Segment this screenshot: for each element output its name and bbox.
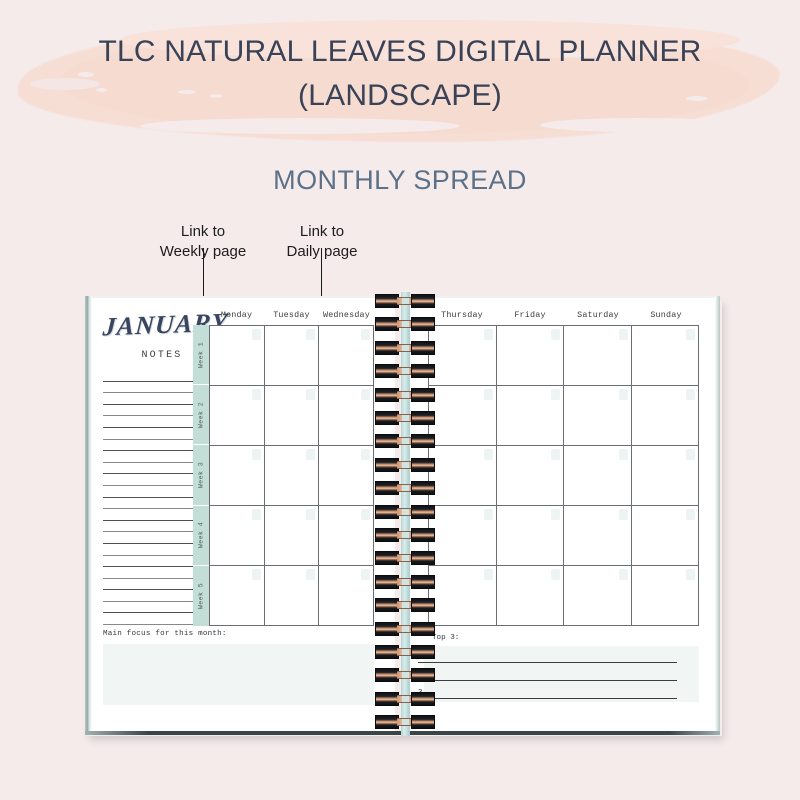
top3-item-3[interactable]: 3. [418,689,677,699]
day-link-box[interactable] [619,449,628,460]
day-link-box[interactable] [361,329,370,340]
calendar-day-cell[interactable] [265,506,320,566]
day-link-box[interactable] [686,569,695,580]
spiral-ring-cap [402,415,409,421]
day-header-tuesday: Tuesday [264,310,319,320]
calendar-day-cell[interactable] [265,446,320,506]
planner-left-page: JANUARY NOTES Week 1Week 2Week 3Week 4We… [85,296,395,732]
spiral-ring [375,481,435,495]
calendar-day-cell[interactable] [210,446,265,506]
calendar-day-cell[interactable] [564,446,632,506]
brush-notch-1 [140,118,460,134]
spiral-ring [375,388,435,402]
spiral-ring [375,317,435,331]
spiral-ring [375,528,435,542]
week-tab-4[interactable]: Week 4 [193,506,209,566]
week-tab-label: Week 2 [198,402,205,428]
top3-item-2[interactable]: 2. [418,671,677,681]
spiral-ring-right [411,668,435,682]
spiral-ring-cap [402,672,409,678]
spiral-ring-left [375,668,399,682]
spiral-ring-right [411,622,435,636]
calendar-day-cell[interactable] [210,326,265,386]
main-focus-input-area[interactable] [103,644,374,705]
spiral-ring-left [375,715,399,729]
day-link-box[interactable] [686,449,695,460]
page-outer-edge [715,296,720,732]
brush-notch-3 [540,118,740,132]
day-header-sunday: Sunday [632,310,700,320]
calendar-day-cell[interactable] [210,566,265,626]
spiral-ring-cap [402,298,409,304]
calendar-day-cell[interactable] [564,506,632,566]
spiral-ring-left [375,551,399,565]
spiral-ring-right [411,411,435,425]
page-top-highlight [92,296,395,298]
day-header-saturday: Saturday [564,310,632,320]
spiral-ring-right [411,505,435,519]
spiral-ring-left [375,645,399,659]
top3-item-1[interactable]: 1. [418,653,677,663]
spiral-ring-cap [402,321,409,327]
spiral-ring-right [411,388,435,402]
day-link-box[interactable] [252,389,261,400]
spiral-ring-left [375,481,399,495]
planner-right-page: Thursday Friday Saturday Sunday Top 3: 1… [410,296,720,732]
day-link-box[interactable] [686,509,695,520]
calendar-day-cell[interactable] [265,326,320,386]
calendar-day-cell[interactable] [632,326,700,386]
screenshot-root: TLC NATURAL LEAVES DIGITAL PLANNER (LAND… [0,0,800,800]
day-link-box[interactable] [551,389,560,400]
day-link-box[interactable] [551,329,560,340]
spiral-ring-left [375,505,399,519]
spiral-ring-left [375,317,399,331]
week-tab-3[interactable]: Week 3 [193,445,209,505]
calendar-day-cell[interactable] [210,506,265,566]
spiral-ring-left [375,598,399,612]
spiral-ring-right [411,481,435,495]
spiral-ring-left [375,692,399,706]
calendar-grid-left [209,325,374,626]
day-header-monday: Monday [209,310,264,320]
calendar-day-cell[interactable] [497,506,565,566]
spiral-ring-right [411,364,435,378]
day-link-box[interactable] [484,329,493,340]
calendar-day-cell[interactable] [265,386,320,446]
spiral-ring-right [411,645,435,659]
spiral-ring-cap [402,579,409,585]
spiral-ring-left [375,388,399,402]
calendar-day-cell[interactable] [319,446,374,506]
calendar-day-cell[interactable] [429,506,497,566]
calendar-day-cell[interactable] [632,566,700,626]
calendar-day-cell[interactable] [429,446,497,506]
day-link-box[interactable] [361,389,370,400]
calendar-day-cell[interactable] [497,326,565,386]
spiral-ring-right [411,598,435,612]
planner-book: JANUARY NOTES Week 1Week 2Week 3Week 4We… [85,296,720,732]
spiral-binding [375,292,435,736]
day-header-wednesday: Wednesday [319,310,374,320]
spiral-ring [375,505,435,519]
spiral-ring-left [375,434,399,448]
day-header-thursday: Thursday [428,310,496,320]
day-link-box[interactable] [686,329,695,340]
spiral-ring [375,341,435,355]
calendar-day-cell[interactable] [632,506,700,566]
calendar-day-cell[interactable] [319,386,374,446]
spiral-ring [375,458,435,472]
spiral-ring-cap [402,696,409,702]
spiral-ring-cap [402,626,409,632]
day-link-box[interactable] [252,569,261,580]
spiral-ring-right [411,434,435,448]
calendar-day-cell[interactable] [319,326,374,386]
calendar-day-cell[interactable] [564,326,632,386]
week-tab-label: Week 1 [198,342,205,368]
day-link-box[interactable] [551,509,560,520]
spiral-ring-cap [402,509,409,515]
spiral-ring-cap [402,438,409,444]
spiral-ring-cap [402,345,409,351]
spiral-ring-right [411,575,435,589]
spiral-ring-cap [402,485,409,491]
spiral-ring-left [375,528,399,542]
day-link-box[interactable] [686,389,695,400]
spiral-ring-right [411,692,435,706]
day-link-box[interactable] [551,449,560,460]
spiral-ring-cap [402,392,409,398]
spiral-ring-cap [402,555,409,561]
day-link-box[interactable] [484,569,493,580]
week-tab-label: Week 5 [198,583,205,609]
spiral-ring [375,364,435,378]
calendar-day-cell[interactable] [429,566,497,626]
day-link-box[interactable] [252,329,261,340]
calendar-day-cell[interactable] [564,566,632,626]
spiral-ring-right [411,458,435,472]
page-subtitle: MONTHLY SPREAD [0,165,800,196]
spiral-ring-right [411,715,435,729]
spiral-ring-cap [402,462,409,468]
spiral-ring-right [411,317,435,331]
spiral-ring-left [375,575,399,589]
spiral-ring [375,645,435,659]
spiral-ring-cap [402,602,409,608]
week-tab-label: Week 4 [198,522,205,548]
main-focus-label: Main focus for this month: [103,630,227,638]
spiral-ring-left [375,294,399,308]
calendar-day-cell[interactable] [319,566,374,626]
week-tab-1[interactable]: Week 1 [193,325,209,385]
calendar-grid-right [428,325,699,626]
day-link-box[interactable] [619,569,628,580]
calendar-day-cell[interactable] [497,386,565,446]
day-link-box[interactable] [306,509,315,520]
day-link-box[interactable] [306,449,315,460]
day-link-box[interactable] [306,329,315,340]
spiral-ring-right [411,528,435,542]
day-link-box[interactable] [306,569,315,580]
calendar-day-cell[interactable] [497,446,565,506]
calendar-day-cell[interactable] [632,386,700,446]
day-link-box[interactable] [551,569,560,580]
spiral-ring [375,692,435,706]
calendar-day-cell[interactable] [319,506,374,566]
day-link-box[interactable] [484,509,493,520]
day-link-box[interactable] [619,389,628,400]
spiral-ring-cap [402,368,409,374]
calendar-day-cell[interactable] [564,386,632,446]
spiral-ring [375,598,435,612]
calendar-day-cell[interactable] [210,386,265,446]
day-link-box[interactable] [252,449,261,460]
day-link-box[interactable] [361,449,370,460]
week-tab-label: Week 3 [198,462,205,488]
calendar-day-cell[interactable] [497,566,565,626]
page-top-highlight [410,296,715,298]
calendar-day-cell[interactable] [265,566,320,626]
spiral-ring-left [375,622,399,636]
spiral-ring [375,411,435,425]
week-tab-5[interactable]: Week 5 [193,566,209,626]
spiral-ring-left [375,411,399,425]
day-link-box[interactable] [252,509,261,520]
day-link-box[interactable] [619,329,628,340]
day-link-box[interactable] [306,389,315,400]
spiral-ring-left [375,458,399,472]
spiral-ring [375,668,435,682]
top3-label: Top 3: [432,634,459,642]
annotation-link-to-daily-page: Link to Daily page [263,222,381,263]
spiral-ring-right [411,341,435,355]
spiral-ring-cap [402,649,409,655]
spiral-ring [375,551,435,565]
day-link-box[interactable] [619,509,628,520]
calendar-day-cell[interactable] [429,326,497,386]
spiral-ring-right [411,551,435,565]
day-link-box[interactable] [361,569,370,580]
spiral-ring-cap [402,532,409,538]
spiral-ring [375,434,435,448]
spiral-ring-right [411,294,435,308]
spiral-ring-left [375,364,399,378]
book-spine-edge [85,296,92,732]
week-tab-2[interactable]: Week 2 [193,385,209,445]
spiral-ring-left [375,341,399,355]
day-link-box[interactable] [484,389,493,400]
spiral-ring [375,575,435,589]
week-tab-column: Week 1Week 2Week 3Week 4Week 5 [193,325,209,626]
day-link-box[interactable] [361,509,370,520]
day-link-box[interactable] [484,449,493,460]
calendar-day-cell[interactable] [429,386,497,446]
day-header-friday: Friday [496,310,564,320]
calendar-day-cell[interactable] [632,446,700,506]
spiral-ring [375,294,435,308]
spiral-ring [375,715,435,729]
spiral-ring-cap [402,719,409,725]
page-title: TLC NATURAL LEAVES DIGITAL PLANNER (LAND… [0,30,800,117]
spiral-ring [375,622,435,636]
